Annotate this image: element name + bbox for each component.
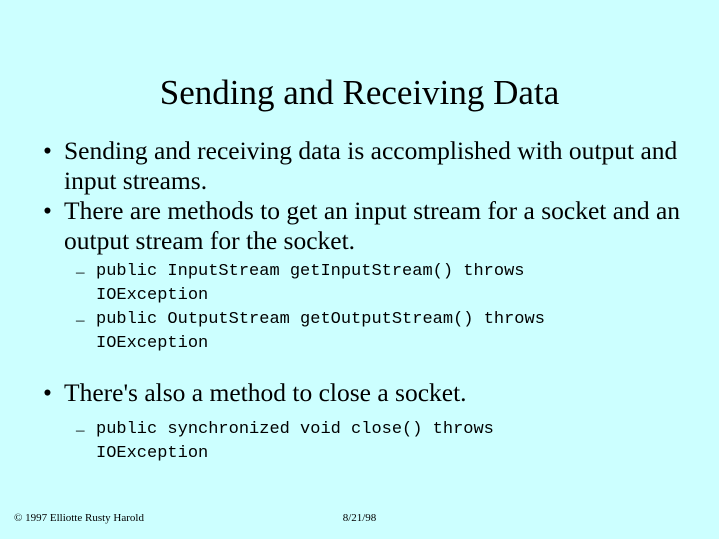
dash-marker-icon: – — [76, 308, 85, 332]
bullet-list-level2: – public synchronized void close() throw… — [64, 418, 690, 466]
code-signature: OutputStream getOutputStream() — [167, 310, 473, 329]
code-keyword: public — [96, 420, 157, 439]
list-item: – public InputStream getInputStream() th… — [64, 260, 690, 308]
slide-canvas: Sending and Receiving Data • Sending and… — [0, 0, 719, 539]
list-item: • There's also a method to close a socke… — [30, 378, 690, 466]
bullet-list-level1: • Sending and receiving data is accompli… — [30, 136, 690, 466]
code-exception: IOException — [96, 442, 690, 466]
bullet-marker-icon: • — [43, 196, 52, 226]
code-throws: throws — [463, 262, 524, 281]
page-title: Sending and Receiving Data — [0, 72, 719, 114]
bullet-text: There's also a method to close a socket. — [64, 378, 467, 407]
code-keyword: public — [96, 262, 157, 281]
code-keyword: public — [96, 310, 157, 329]
dash-marker-icon: – — [76, 260, 85, 284]
list-item: – public OutputStream getOutputStream() … — [64, 308, 690, 356]
bullet-list-level2: – public InputStream getInputStream() th… — [64, 260, 690, 356]
code-throws: throws — [484, 310, 545, 329]
list-item: • Sending and receiving data is accompli… — [30, 136, 690, 196]
code-exception: IOException — [96, 332, 690, 356]
code-exception: IOException — [96, 284, 690, 308]
list-item: – public synchronized void close() throw… — [64, 418, 690, 466]
code-signature: synchronized void close() — [167, 420, 422, 439]
bullet-marker-icon: • — [43, 378, 52, 408]
footer-date: 8/21/98 — [0, 512, 719, 524]
code-signature: InputStream getInputStream() — [167, 262, 453, 281]
bullet-text: Sending and receiving data is accomplish… — [64, 136, 677, 195]
list-item: • There are methods to get an input stre… — [30, 196, 690, 356]
dash-marker-icon: – — [76, 418, 85, 442]
bullet-marker-icon: • — [43, 136, 52, 166]
code-throws: throws — [433, 420, 494, 439]
slide-body: • Sending and receiving data is accompli… — [30, 136, 690, 466]
bullet-text: There are methods to get an input stream… — [64, 196, 680, 255]
